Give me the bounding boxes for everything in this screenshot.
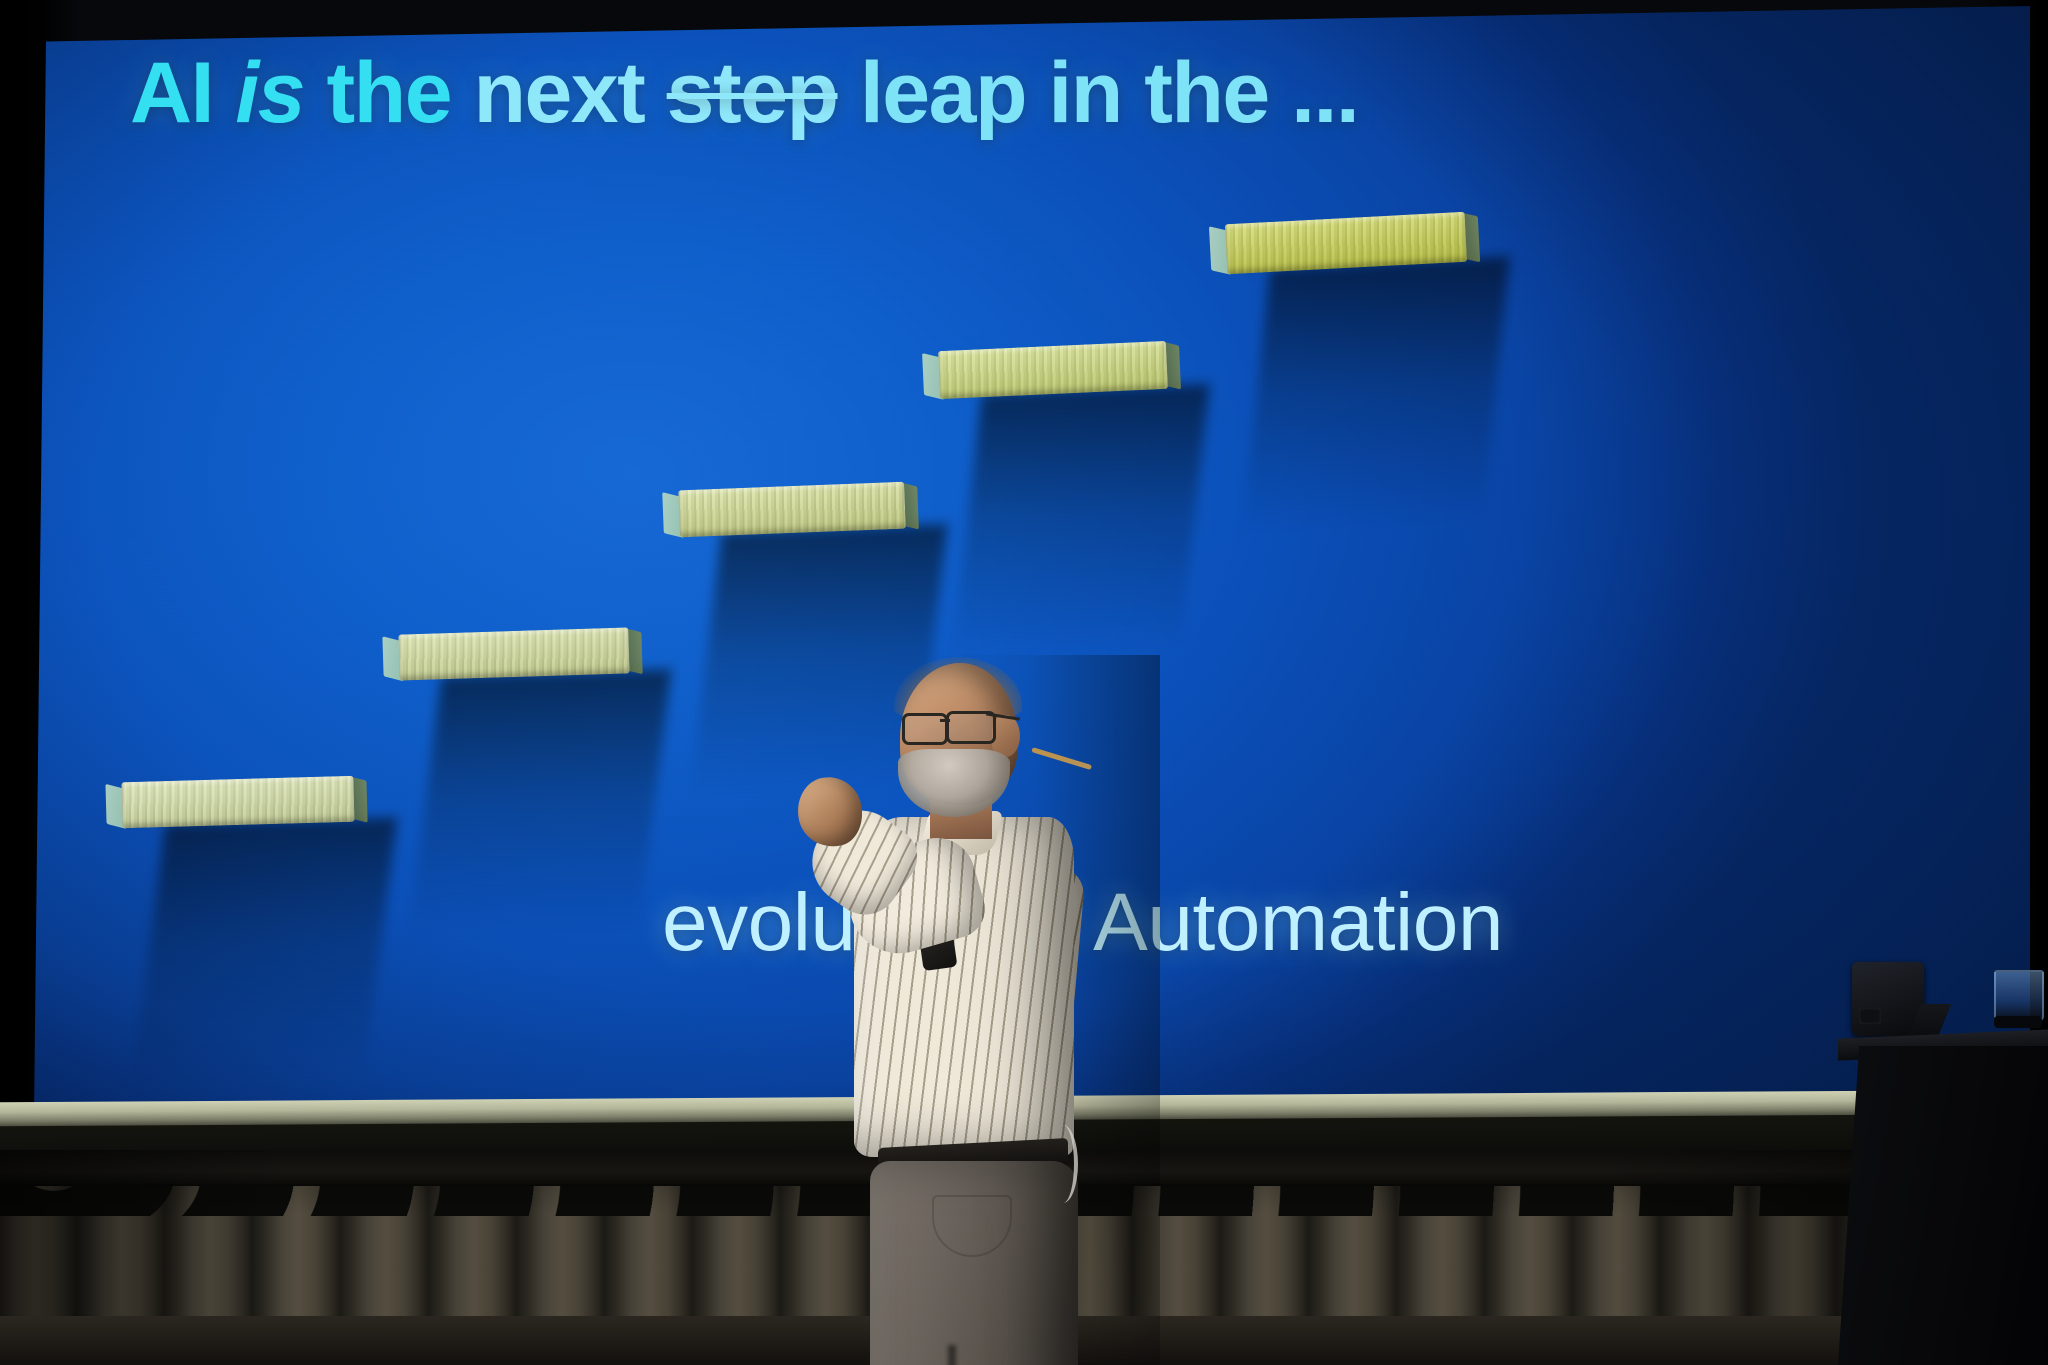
presentation-stage-photo: AI is the next step leap in the ... evol… [0,0,2048,1365]
headline-part-step-struck: step [667,45,838,141]
tablet-camera-icon [1859,1008,1881,1024]
step-block-2-face [398,627,629,680]
headline-part-ellipsis: ... [1291,45,1358,141]
step-block-1 [121,776,354,828]
headline-part-ai: AI [130,45,235,141]
step-block-5 [1225,212,1467,274]
step-block-1-face [121,776,354,828]
headset-microphone-boom [1031,747,1092,770]
presenter-leg-seam [948,1345,956,1365]
presenter-trousers [870,1161,1078,1365]
eyeglasses-left-lens-icon [902,713,948,745]
eyeglasses-right-lens-icon [946,711,996,744]
headline-part-is: is [235,45,326,141]
lectern [1838,1012,2048,1365]
step-block-2 [398,627,629,680]
headline-part-leap-in-the: leap in the [838,45,1292,141]
presenter-beard [898,749,1010,817]
lectern-body [1838,1046,2048,1365]
step-block-3 [678,482,906,538]
slide-headline: AI is the next step leap in the ... [130,48,1358,138]
step-block-2-shadow [404,669,672,978]
step-block-1-shadow [126,818,397,1116]
water-glass [1994,970,2044,1022]
step-block-3-face [678,482,906,538]
step-block-4-shadow [948,384,1210,696]
presenter-lanyard-cable [1048,1125,1078,1203]
step-block-5-shadow [1238,256,1509,571]
presenter [820,655,1160,1365]
step-block-4 [938,341,1168,399]
headline-part-the: the [327,45,474,141]
headline-part-next: next [473,45,666,141]
eyeglasses-bridge [940,719,950,722]
